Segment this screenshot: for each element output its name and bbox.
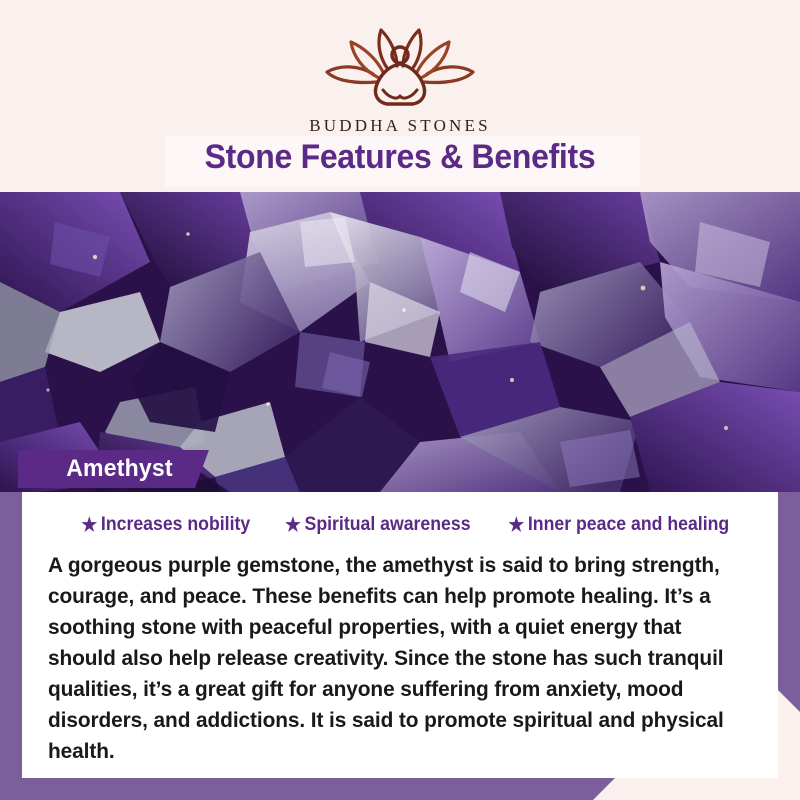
star-icon: ★ xyxy=(285,516,301,535)
benefit-label-3: Inner peace and healing xyxy=(528,514,729,536)
benefits-list: ★ Increases nobility ★ Spiritual awarene… xyxy=(48,514,764,536)
frame-band-left xyxy=(0,488,22,800)
brand-logo-block: BUDDHA STONES xyxy=(0,22,800,136)
lotus-meditation-icon xyxy=(315,22,485,114)
stone-info-card: BUDDHA STONES Stone Features & Benefits xyxy=(0,0,800,800)
benefit-label-2: Spiritual awareness xyxy=(305,514,471,536)
amethyst-crystal-cluster-photo xyxy=(0,192,800,492)
benefit-item-2: ★ Spiritual awareness xyxy=(285,514,471,536)
benefit-item-1: ★ Increases nobility xyxy=(81,514,250,536)
stone-name-banner: Amethyst xyxy=(18,450,209,488)
content-panel: ★ Increases nobility ★ Spiritual awarene… xyxy=(22,492,778,778)
benefit-item-3: ★ Inner peace and healing xyxy=(508,514,729,536)
card-header: BUDDHA STONES Stone Features & Benefits xyxy=(0,0,800,192)
stone-name: Amethyst xyxy=(66,455,173,483)
star-icon: ★ xyxy=(508,516,524,535)
brand-name: BUDDHA STONES xyxy=(0,116,800,136)
stone-description: A gorgeous purple gemstone, the amethyst… xyxy=(48,550,743,767)
star-icon: ★ xyxy=(81,516,97,535)
page-title: Stone Features & Benefits xyxy=(24,138,776,177)
benefit-label-1: Increases nobility xyxy=(101,514,250,536)
